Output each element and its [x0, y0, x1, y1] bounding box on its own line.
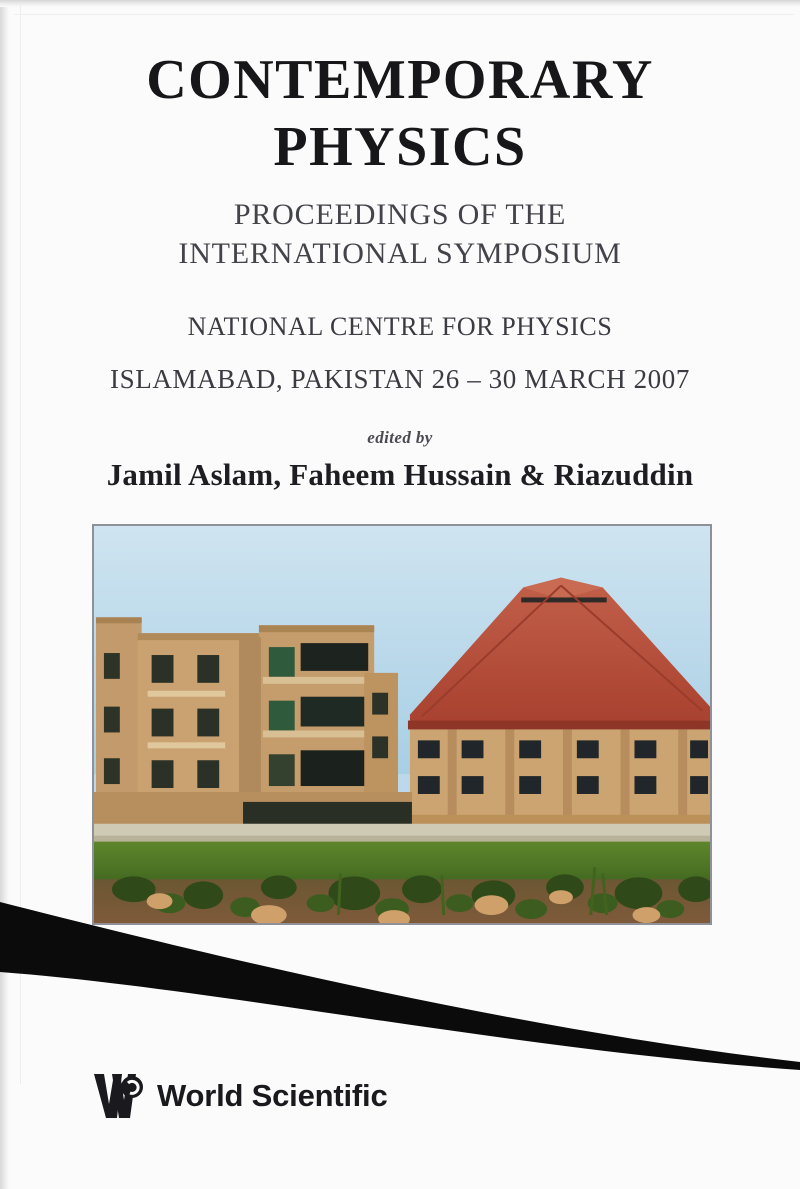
- subtitle-line-2: INTERNATIONAL SYMPOSIUM: [0, 234, 800, 273]
- cover-editors: edited by Jamil Aslam, Faheem Hussain & …: [0, 428, 800, 493]
- publisher-logo: World Scientific: [92, 1066, 387, 1126]
- venue-organization: NATIONAL CENTRE FOR PHYSICS: [0, 312, 800, 342]
- world-scientific-logo-mark: [92, 1070, 148, 1122]
- edited-by-label: edited by: [0, 428, 800, 448]
- publisher-name: World Scientific: [157, 1078, 387, 1114]
- venue-location-date: ISLAMABAD, PAKISTAN 26 – 30 MARCH 2007: [0, 364, 800, 395]
- cover-title: CONTEMPORARY PHYSICS: [0, 52, 800, 176]
- title-line-2: PHYSICS: [0, 119, 800, 176]
- subtitle-line-1: PROCEEDINGS OF THE: [0, 195, 800, 234]
- editor-names: Jamil Aslam, Faheem Hussain & Riazuddin: [0, 457, 800, 493]
- book-cover: CONTEMPORARY PHYSICS PROCEEDINGS OF THE …: [0, 0, 800, 1189]
- cover-subtitle: PROCEEDINGS OF THE INTERNATIONAL SYMPOSI…: [0, 195, 800, 273]
- page-edge-inner-horizontal: [14, 14, 794, 15]
- page-edge-top: [0, 0, 800, 7]
- page-edge-left: [0, 0, 9, 1189]
- cover-venue: NATIONAL CENTRE FOR PHYSICS ISLAMABAD, P…: [0, 312, 800, 395]
- campus-photo-illustration: [94, 526, 710, 923]
- title-line-1: CONTEMPORARY: [0, 52, 800, 109]
- cover-photograph: [92, 524, 712, 925]
